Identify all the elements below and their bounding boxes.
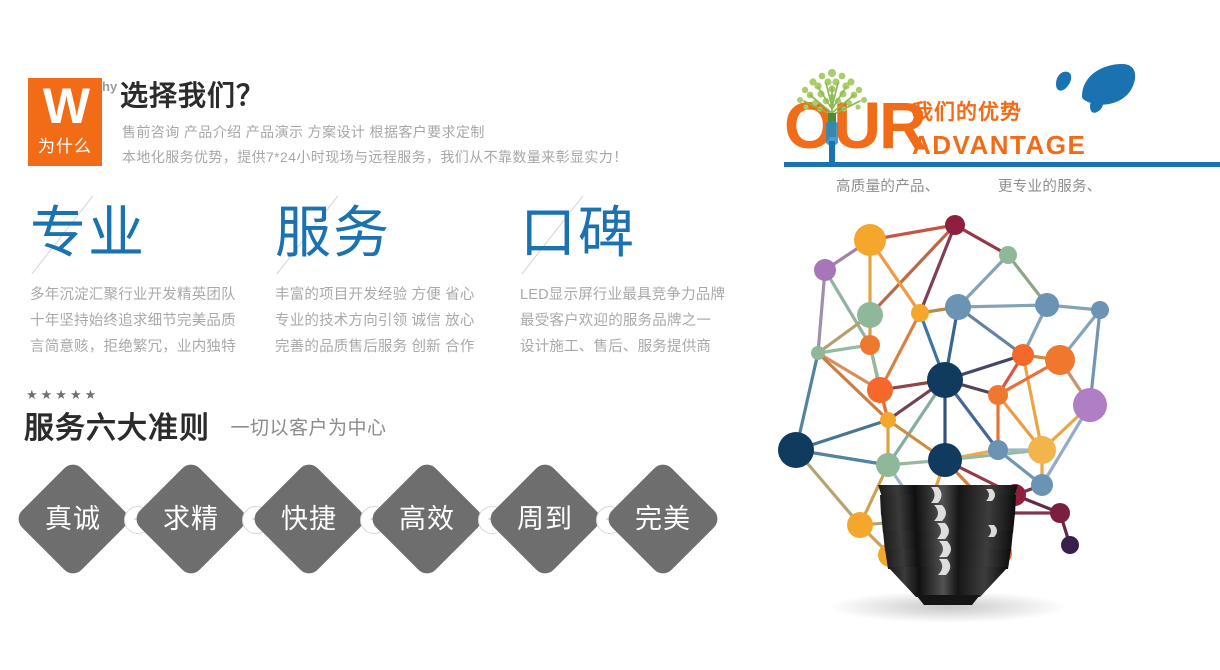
feature-column-reputation: 口碑 LED显示屏行业最具竞争力品牌 最受客户欢迎的服务品牌之一 设计施工、售后… (518, 196, 753, 274)
principle-diamond[interactable]: 求精 (140, 468, 242, 570)
feature-heading: 服务 (275, 196, 391, 270)
right-panel: OUR (760, 0, 1220, 670)
principle-diamond[interactable]: 周到 (494, 468, 596, 570)
why-logo-superscript: hy (102, 80, 117, 94)
why-logo-letter: W (28, 80, 102, 132)
feature-line: 设计施工、售后、服务提供商 (520, 334, 760, 360)
feature-line: 多年沉淀汇聚行业开发精英团队 (30, 282, 270, 308)
feature-text-block: 多年沉淀汇聚行业开发精英团队 十年坚持始终追求细节完美品质 言简意赅，拒绝繁冗，… (30, 282, 270, 360)
principle-diamond[interactable]: 完美 (612, 468, 714, 570)
feature-heading: 专业 (30, 196, 146, 270)
why-logo-box: W 为什么 (28, 78, 102, 166)
principle-diamond[interactable]: 真诚 (22, 468, 124, 570)
feature-line: LED显示屏行业最具竞争力品牌 (520, 282, 760, 308)
why-us-title: 选择我们？ (120, 78, 265, 114)
principle-diamond[interactable]: 快捷 (258, 468, 360, 570)
feature-heading-wrap: 专业 (28, 196, 263, 274)
feature-heading: 口碑 (520, 196, 636, 270)
tree-icon (784, 57, 880, 167)
principles-header: 服务六大准则 一切以客户为中心 (24, 408, 386, 450)
feature-column-service: 服务 丰富的项目开发经验 方便 省心 专业的技术方向引领 诚信 放心 完善的品质… (273, 196, 508, 274)
principles-title: 服务六大准则 (24, 408, 210, 450)
diamond-label: 完美 (612, 468, 714, 570)
why-us-header: W 为什么 hy 选择我们？ 售前咨询 产品介绍 产品演示 方案设计 根据客户要… (28, 72, 728, 172)
feature-line: 十年坚持始终追求细节完美品质 (30, 308, 270, 334)
left-panel: W 为什么 hy 选择我们？ 售前咨询 产品介绍 产品演示 方案设计 根据客户要… (0, 0, 760, 670)
principles-subtitle: 一切以客户为中心 (230, 408, 386, 450)
diamond-label: 真诚 (22, 468, 124, 570)
header-divider (784, 162, 1220, 167)
feature-column-professional: 专业 多年沉淀汇聚行业开发精英团队 十年坚持始终追求细节完美品质 言简意赅，拒绝… (28, 196, 263, 274)
principle-diamond[interactable]: 高效 (376, 468, 478, 570)
principles-diamond-row: 真诚 + 求精 + 快捷 + 高效 + 周到 + (22, 468, 732, 588)
our-advantage-header: OUR (778, 62, 1218, 172)
leaf-icon (1046, 58, 1138, 120)
why-us-subtitle-line-2: 本地化服务优势，提供7*24小时现场与远程服务，我们从不靠数量来彰显实力！ (122, 145, 628, 170)
feature-line: 专业的技术方向引领 诚信 放心 (275, 308, 515, 334)
feature-heading-wrap: 口碑 (518, 196, 753, 274)
diamond-label: 周到 (494, 468, 596, 570)
advantage-chinese: 我们的优势 (912, 100, 1022, 126)
feature-heading-wrap: 服务 (273, 196, 508, 274)
why-logo: W 为什么 hy (28, 78, 118, 166)
diamond-label: 快捷 (258, 468, 360, 570)
feature-text-block: 丰富的项目开发经验 方便 省心 专业的技术方向引领 诚信 放心 完善的品质售后服… (275, 282, 515, 360)
why-logo-chinese: 为什么 (28, 134, 102, 160)
feature-line: 最受客户欢迎的服务品牌之一 (520, 308, 760, 334)
feature-line: 丰富的项目开发经验 方便 省心 (275, 282, 515, 308)
advantage-page: W 为什么 hy 选择我们？ 售前咨询 产品介绍 产品演示 方案设计 根据客户要… (0, 0, 1220, 670)
feature-text-block: LED显示屏行业最具竞争力品牌 最受客户欢迎的服务品牌之一 设计施工、售后、服务… (520, 282, 760, 360)
diamond-label: 高效 (376, 468, 478, 570)
feature-line: 完善的品质售后服务 创新 合作 (275, 334, 515, 360)
star-rating-icon: ★★★★★ (26, 388, 99, 402)
feature-line: 言简意赅，拒绝繁冗，业内独特 (30, 334, 270, 360)
advantage-english: ADVANTAGE (912, 130, 1086, 160)
feature-columns: 专业 多年沉淀汇聚行业开发精英团队 十年坚持始终追求细节完美品质 言简意赅，拒绝… (28, 196, 748, 366)
why-us-subtitle-line-1: 售前咨询 产品介绍 产品演示 方案设计 根据客户要求定制 (122, 120, 485, 145)
diamond-label: 求精 (140, 468, 242, 570)
network-lightbulb-illustration (770, 195, 1210, 625)
